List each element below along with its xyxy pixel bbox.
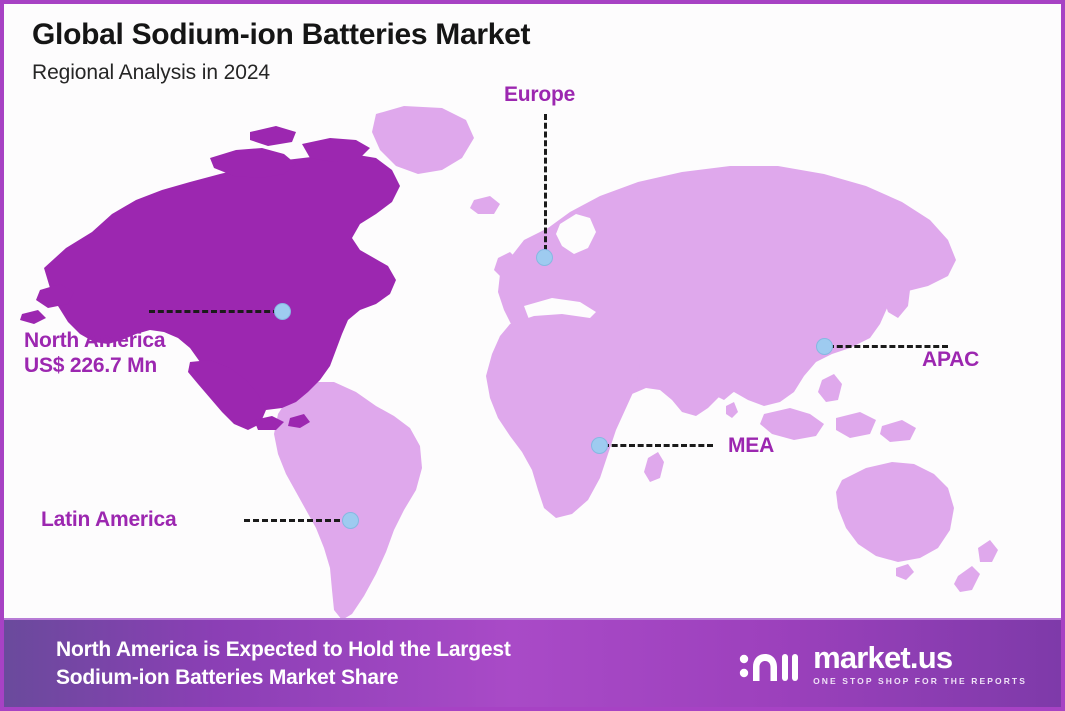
map-marker-mea[interactable]	[591, 437, 608, 454]
header: Global Sodium-ion Batteries Market Regio…	[32, 18, 530, 85]
region-name-latin-america: Latin America	[41, 508, 177, 531]
connector-line-europe	[544, 114, 547, 251]
connector-line-mea	[603, 444, 713, 447]
banner-headline-line-1: North America is Expected to Hold the La…	[56, 636, 511, 664]
page-subtitle: Regional Analysis in 2024	[32, 61, 530, 85]
callout-label-latin-america: Latin America	[41, 508, 177, 533]
region-name-mea: MEA	[728, 434, 774, 457]
region-value-north-america: US$ 226.7 Mn	[24, 354, 165, 379]
infographic-canvas: Global Sodium-ion Batteries Market Regio…	[0, 0, 1065, 711]
bottom-banner: North America is Expected to Hold the La…	[4, 618, 1061, 707]
page-title: Global Sodium-ion Batteries Market	[32, 18, 530, 52]
banner-headline: North America is Expected to Hold the La…	[56, 636, 511, 691]
map-marker-apac[interactable]	[816, 338, 833, 355]
map-marker-europe[interactable]	[536, 249, 553, 266]
callout-label-mea: MEA	[728, 434, 774, 459]
connector-line-apac	[828, 345, 948, 348]
map-highlighted-region-north-america	[20, 126, 400, 430]
market-us-logo[interactable]: market.us ONE STOP SHOP FOR THE REPORTS	[739, 642, 1033, 686]
logo-text-block: market.us ONE STOP SHOP FOR THE REPORTS	[813, 642, 1027, 686]
banner-headline-line-2: Sodium-ion Batteries Market Share	[56, 664, 511, 692]
region-name-apac: APAC	[922, 348, 979, 371]
connector-line-latin-america	[244, 519, 349, 522]
connector-line-north-america	[149, 310, 279, 313]
map-marker-latin-america[interactable]	[342, 512, 359, 529]
map-marker-north-america[interactable]	[274, 303, 291, 320]
logo-tagline: ONE STOP SHOP FOR THE REPORTS	[813, 677, 1027, 686]
logo-wordmark: market.us	[813, 642, 1027, 673]
callout-label-apac: APAC	[922, 348, 979, 373]
callout-label-north-america: North America US$ 226.7 Mn	[24, 329, 165, 379]
region-name-north-america: North America	[24, 329, 165, 352]
market-us-logo-mark-icon	[739, 645, 801, 683]
callout-label-europe: Europe	[504, 83, 575, 108]
region-name-europe: Europe	[504, 83, 575, 106]
